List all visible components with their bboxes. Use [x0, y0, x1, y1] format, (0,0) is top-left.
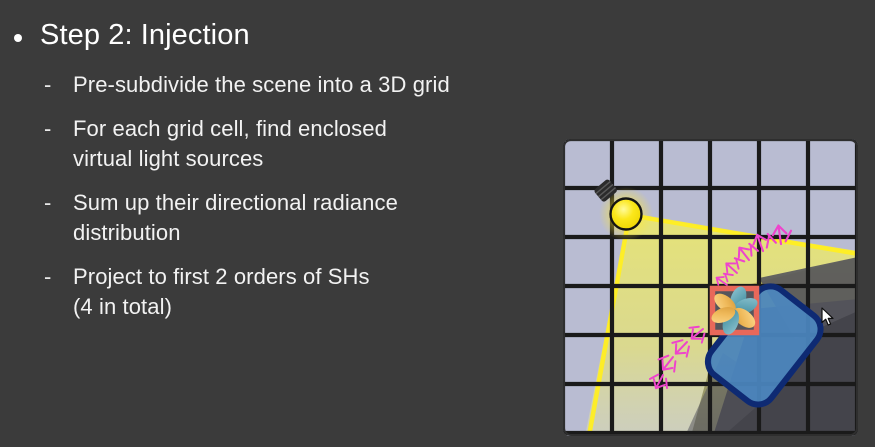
list-item-label: Pre-subdivide the scene into a 3D grid — [73, 70, 450, 100]
list-item: - Pre-subdivide the scene into a 3D grid — [44, 70, 544, 100]
text-content-column: Step 2: Injection - Pre-subdivide the sc… — [0, 0, 556, 447]
list-item: - Sum up their directional radiance dist… — [44, 188, 544, 248]
slide-canvas: Step 2: Injection - Pre-subdivide the sc… — [0, 0, 875, 447]
dash-marker-icon: - — [44, 188, 58, 218]
list-item-label: For each grid cell, find enclosed virtua… — [73, 114, 387, 174]
bullet-list: - Pre-subdivide the scene into a 3D grid… — [44, 70, 544, 336]
dash-marker-icon: - — [44, 114, 58, 144]
dash-marker-icon: - — [44, 70, 58, 100]
slide-title-row: Step 2: Injection — [14, 18, 250, 52]
list-item: - For each grid cell, find enclosed virt… — [44, 114, 544, 174]
list-item-label: Project to first 2 orders of SHs (4 in t… — [73, 262, 370, 322]
page-title: Step 2: Injection — [40, 18, 250, 52]
bulb-glass — [611, 199, 642, 230]
list-item-label: Sum up their directional radiance distri… — [73, 188, 398, 248]
dash-marker-icon: - — [44, 262, 58, 292]
list-item: - Project to first 2 orders of SHs (4 in… — [44, 262, 544, 322]
light-propagation-volume-grid-diagram — [563, 139, 859, 437]
bullet-dot-icon — [14, 34, 22, 42]
